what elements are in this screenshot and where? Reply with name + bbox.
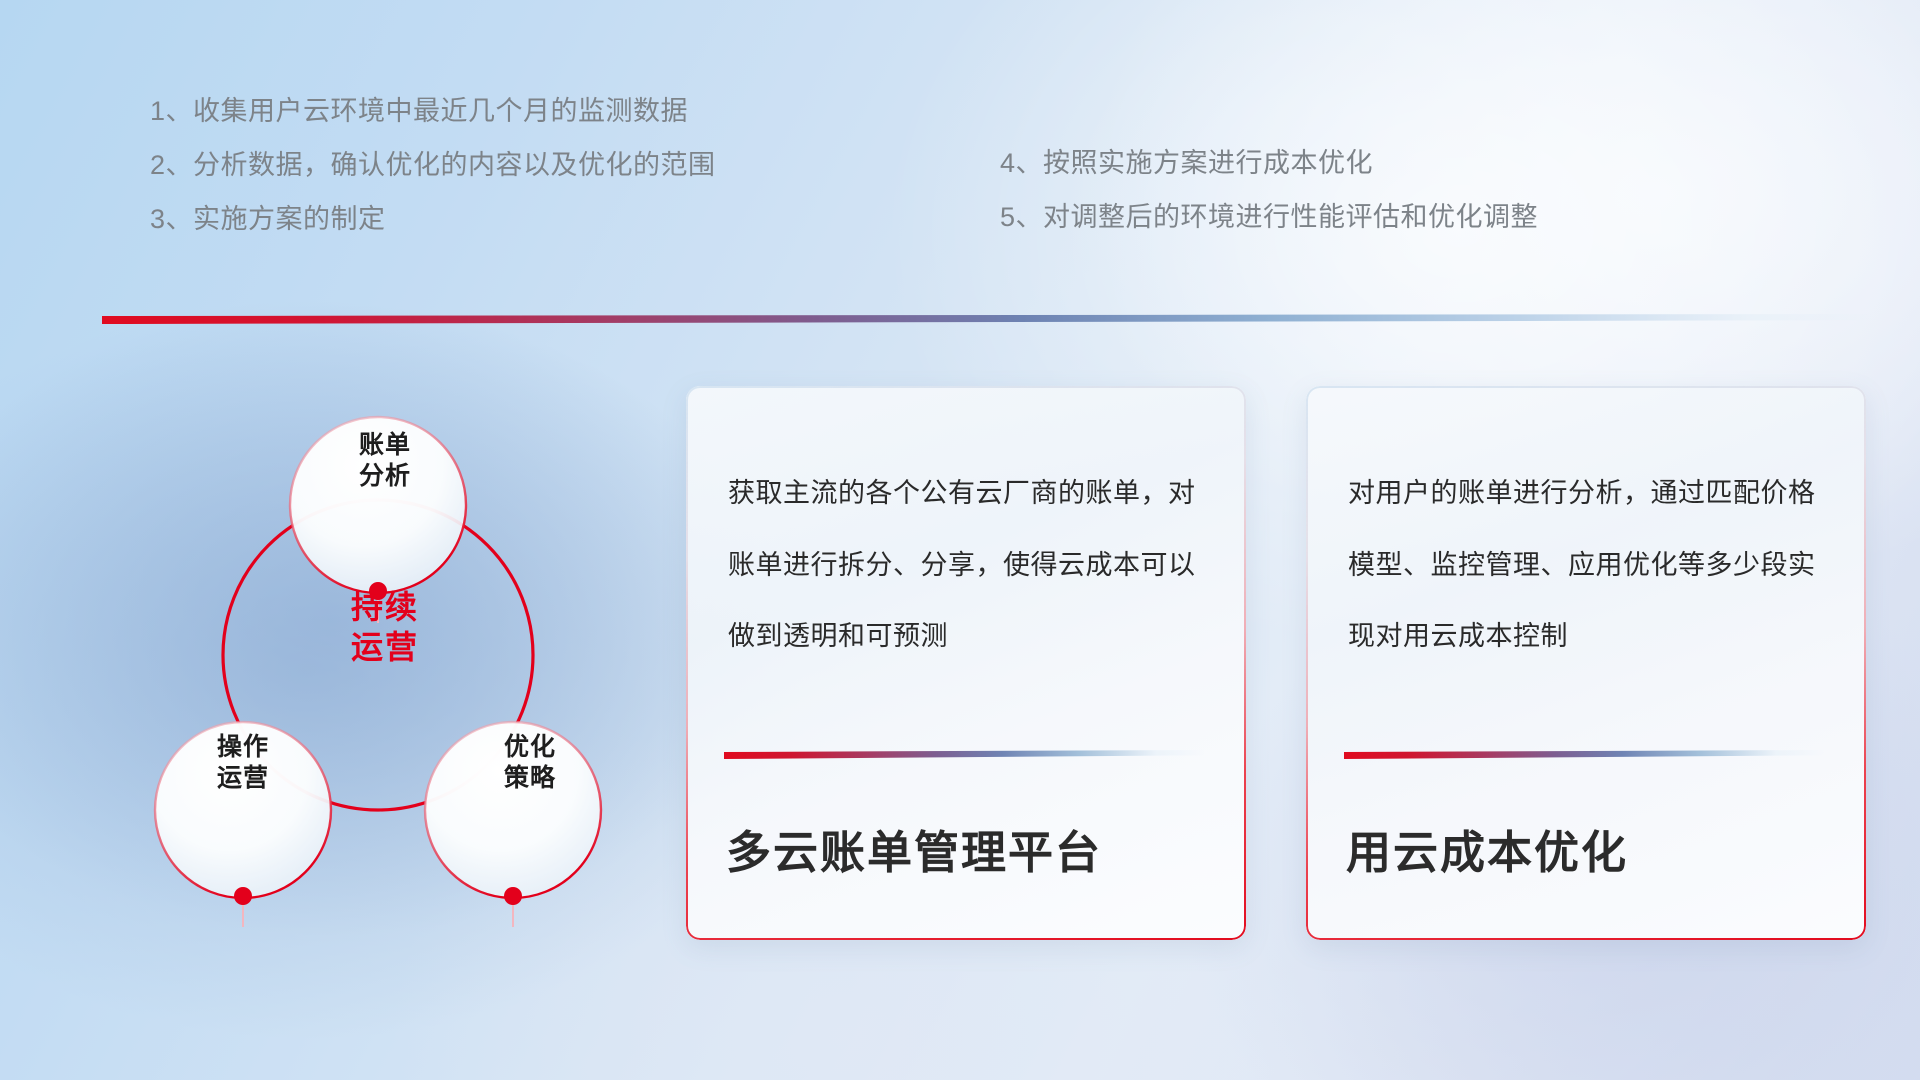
section-divider bbox=[102, 314, 1872, 324]
card-divider-bar bbox=[724, 750, 1204, 759]
card-title: 用云成本优化 bbox=[1346, 816, 1846, 881]
step-item-1: 1、收集用户云环境中最近几个月的监测数据 bbox=[150, 98, 716, 125]
continuous-operation-diagram: 账单 分析 操作 运营 优化 策略 持续 运营 bbox=[95, 355, 655, 955]
step-item-2: 2、分析数据，确认优化的内容以及优化的范围 bbox=[150, 152, 716, 179]
diagram-svg bbox=[95, 355, 655, 955]
step-item-3: 3、实施方案的制定 bbox=[150, 206, 716, 233]
card-body-text: 对用户的账单进行分析，通过匹配价格模型、监控管理、应用优化等多少段实现对用云成本… bbox=[1348, 458, 1832, 673]
steps-list-right: 4、按照实施方案进行成本优化 5、对调整后的环境进行性能评估和优化调整 bbox=[1000, 150, 1538, 258]
node-dot-left bbox=[234, 887, 252, 905]
step-item-4: 4、按照实施方案进行成本优化 bbox=[1000, 150, 1538, 177]
card-divider bbox=[724, 750, 1204, 759]
slide-canvas: 1、收集用户云环境中最近几个月的监测数据 2、分析数据，确认优化的内容以及优化的… bbox=[0, 0, 1920, 1080]
step-item-5: 5、对调整后的环境进行性能评估和优化调整 bbox=[1000, 204, 1538, 231]
node-dot-right bbox=[504, 887, 522, 905]
lobe-circle-top bbox=[290, 417, 466, 593]
card-divider-bar bbox=[1344, 750, 1824, 759]
section-divider-bar bbox=[102, 314, 1872, 324]
card-body-text: 获取主流的各个公有云厂商的账单，对账单进行拆分、分享，使得云成本可以做到透明和可… bbox=[728, 458, 1212, 673]
feature-card-multicloud-billing[interactable]: 获取主流的各个公有云厂商的账单，对账单进行拆分、分享，使得云成本可以做到透明和可… bbox=[686, 386, 1246, 940]
card-title: 多云账单管理平台 bbox=[726, 816, 1226, 881]
feature-card-cloud-cost-optimization[interactable]: 对用户的账单进行分析，通过匹配价格模型、监控管理、应用优化等多少段实现对用云成本… bbox=[1306, 386, 1866, 940]
card-divider bbox=[1344, 750, 1824, 759]
steps-list-left: 1、收集用户云环境中最近几个月的监测数据 2、分析数据，确认优化的内容以及优化的… bbox=[150, 98, 716, 260]
lobe-circle-right bbox=[425, 722, 601, 898]
lobe-circle-left bbox=[155, 722, 331, 898]
node-dot-top bbox=[369, 582, 387, 600]
